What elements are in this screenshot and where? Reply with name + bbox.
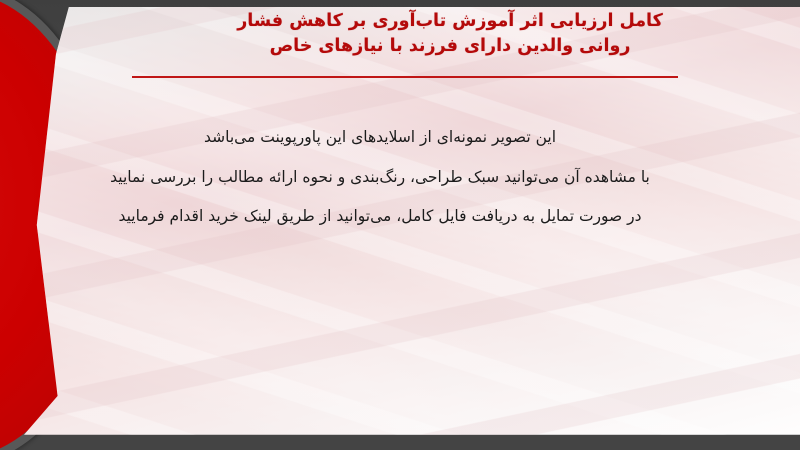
slide-title-line-1: کامل ارزیابی اثر آموزش تاب‌آوری بر کاهش … bbox=[120, 9, 780, 34]
title-underline-rule bbox=[132, 76, 678, 78]
body-line-2: با مشاهده آن می‌توانید سبک طراحی، رنگ‌بن… bbox=[70, 158, 690, 198]
slide-title-line-2: روانی والدین دارای فرزند با نیازهای خاص bbox=[120, 34, 780, 59]
slide-title: کامل ارزیابی اثر آموزش تاب‌آوری بر کاهش … bbox=[120, 9, 780, 59]
presentation-slide: کامل ارزیابی اثر آموزش تاب‌آوری بر کاهش … bbox=[0, 0, 800, 450]
body-line-1: این تصویر نمونه‌ای از اسلایدهای این پاور… bbox=[70, 118, 690, 158]
slide-body-text: این تصویر نمونه‌ای از اسلایدهای این پاور… bbox=[70, 118, 690, 237]
body-line-3: در صورت تمایل به دریافت فایل کامل، می‌تو… bbox=[70, 197, 690, 237]
